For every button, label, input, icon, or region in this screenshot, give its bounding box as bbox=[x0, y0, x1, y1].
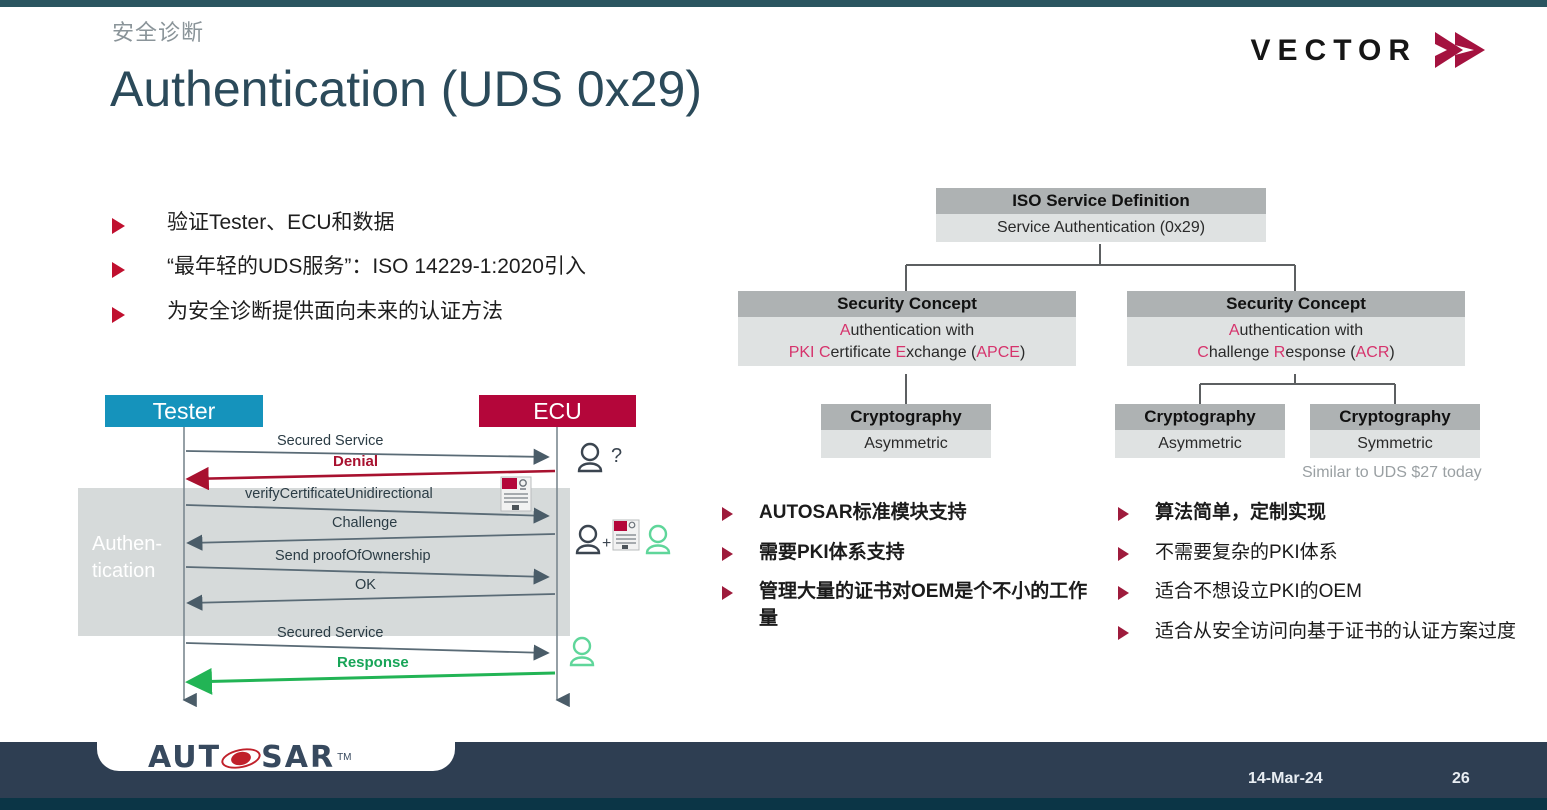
autosar-logo: AUT SAR TM bbox=[148, 740, 352, 775]
certificate-icon bbox=[501, 477, 531, 511]
triangle-bullet-icon bbox=[1118, 626, 1129, 640]
iso-service-hierarchy: ISO Service Definition Service Authentic… bbox=[730, 188, 1490, 478]
autosar-wordmark-a: AUT bbox=[148, 740, 221, 775]
footer-bottom-strip bbox=[0, 798, 1547, 810]
autosar-trademark: TM bbox=[337, 752, 351, 763]
footer-page-number: 26 bbox=[1452, 770, 1470, 788]
list-item: 适合从安全访问向基于证书的认证方案过度 bbox=[1118, 619, 1518, 646]
tree-node-title: Security Concept bbox=[738, 291, 1076, 317]
person-authenticated-green-icon bbox=[571, 638, 593, 665]
tree-node-body: Authentication with PKI Certificate Exch… bbox=[738, 317, 1076, 366]
certificate-small-icon bbox=[613, 520, 639, 550]
tree-note: Similar to UDS $27 today bbox=[1302, 464, 1482, 482]
tree-node-title: Cryptography bbox=[821, 404, 991, 430]
person-unknown-icon bbox=[579, 444, 601, 471]
tree-node-crypto-apce: Cryptography Asymmetric bbox=[821, 404, 991, 458]
bullet-text: 需要PKI体系支持 bbox=[759, 540, 905, 567]
list-item: 不需要复杂的PKI体系 bbox=[1118, 540, 1518, 567]
person-verified-green-icon bbox=[647, 526, 669, 553]
tree-node-body: Symmetric bbox=[1310, 430, 1480, 458]
page-title: Authentication (UDS 0x29) bbox=[110, 60, 702, 118]
tree-node-body-line2: PKI Certificate Exchange (APCE) bbox=[744, 342, 1070, 364]
left-bullet-list: 验证Tester、ECU和数据 “最年轻的UDS服务”：ISO 14229-1:… bbox=[112, 208, 712, 341]
tree-node-concept-apce: Security Concept Authentication with PKI… bbox=[738, 291, 1076, 366]
list-item: AUTOSAR标准模块支持 bbox=[722, 500, 1092, 527]
vector-wordmark: VECTOR bbox=[1251, 34, 1417, 68]
slide-kicker: 安全诊断 bbox=[112, 15, 204, 47]
tree-node-body: Service Authentication (0x29) bbox=[936, 214, 1266, 242]
tree-node-body-line1: Authentication with bbox=[1133, 320, 1459, 342]
tree-node-title: Security Concept bbox=[1127, 291, 1465, 317]
triangle-bullet-icon bbox=[112, 262, 125, 278]
footer-date: 14-Mar-24 bbox=[1248, 770, 1323, 788]
triangle-bullet-icon bbox=[1118, 586, 1129, 600]
top-accent-bar bbox=[0, 0, 1547, 7]
tree-node-title: ISO Service Definition bbox=[936, 188, 1266, 214]
autosar-wordmark-b: SAR bbox=[261, 740, 335, 775]
tree-node-title: Cryptography bbox=[1310, 404, 1480, 430]
message-label: verifyCertificateUnidirectional bbox=[245, 486, 433, 502]
apce-bullet-list: AUTOSAR标准模块支持 需要PKI体系支持 管理大量的证书对OEM是个不小的… bbox=[722, 500, 1092, 645]
message-label: Secured Service bbox=[277, 625, 383, 641]
bullet-text: 验证Tester、ECU和数据 bbox=[167, 208, 395, 238]
list-item: 适合不想设立PKI的OEM bbox=[1118, 579, 1518, 606]
triangle-bullet-icon bbox=[1118, 507, 1129, 521]
tree-node-concept-acr: Security Concept Authentication with Cha… bbox=[1127, 291, 1465, 366]
slide-root: 安全诊断 Authentication (UDS 0x29) VECTOR 验证… bbox=[0, 0, 1547, 810]
vector-logo: VECTOR bbox=[1251, 30, 1487, 72]
triangle-bullet-icon bbox=[722, 507, 733, 521]
list-item: 算法简单，定制实现 bbox=[1118, 500, 1518, 527]
list-item: 管理大量的证书对OEM是个不小的工作量 bbox=[722, 579, 1092, 632]
bullet-text: AUTOSAR标准模块支持 bbox=[759, 500, 967, 527]
bullet-text: 管理大量的证书对OEM是个不小的工作量 bbox=[759, 579, 1092, 632]
svg-text:?: ? bbox=[611, 445, 622, 467]
triangle-bullet-icon bbox=[1118, 547, 1129, 561]
autosar-o-icon bbox=[221, 744, 261, 772]
vector-chevron-icon bbox=[1433, 30, 1487, 72]
message-label: Secured Service bbox=[277, 433, 383, 449]
tree-node-crypto-acr-sym: Cryptography Symmetric bbox=[1310, 404, 1480, 458]
message-label: Response bbox=[337, 654, 409, 671]
message-label: Challenge bbox=[332, 515, 397, 531]
bullet-text: 不需要复杂的PKI体系 bbox=[1155, 540, 1338, 567]
bullet-text: “最年轻的UDS服务”：ISO 14229-1:2020引入 bbox=[167, 252, 586, 282]
bullet-text: 适合从安全访问向基于证书的认证方案过度 bbox=[1155, 619, 1516, 646]
triangle-bullet-icon bbox=[112, 218, 125, 234]
message-label: Denial bbox=[333, 453, 378, 470]
tree-node-title: Cryptography bbox=[1115, 404, 1285, 430]
bullet-text: 算法简单，定制实现 bbox=[1155, 500, 1326, 527]
bullet-text: 适合不想设立PKI的OEM bbox=[1155, 579, 1362, 606]
tree-node-body: Asymmetric bbox=[821, 430, 991, 458]
sequence-diagram: Authen- tication Tester ECU bbox=[78, 385, 698, 720]
list-item: 需要PKI体系支持 bbox=[722, 540, 1092, 567]
tree-node-crypto-acr-asym: Cryptography Asymmetric bbox=[1115, 404, 1285, 458]
message-label: OK bbox=[355, 577, 376, 593]
person-plus-certificate-icon bbox=[577, 526, 599, 553]
bullet-text: 为安全诊断提供面向未来的认证方法 bbox=[167, 297, 503, 327]
acr-bullet-list: 算法简单，定制实现 不需要复杂的PKI体系 适合不想设立PKI的OEM 适合从安… bbox=[1118, 500, 1518, 658]
tree-node-body: Asymmetric bbox=[1115, 430, 1285, 458]
list-item: “最年轻的UDS服务”：ISO 14229-1:2020引入 bbox=[112, 252, 712, 282]
tree-node-body-line2: Challenge Response (ACR) bbox=[1133, 342, 1459, 364]
triangle-bullet-icon bbox=[722, 586, 733, 600]
triangle-bullet-icon bbox=[112, 307, 125, 323]
tree-node-root: ISO Service Definition Service Authentic… bbox=[936, 188, 1266, 242]
triangle-bullet-icon bbox=[722, 547, 733, 561]
list-item: 为安全诊断提供面向未来的认证方法 bbox=[112, 297, 712, 327]
tree-node-body: Authentication with Challenge Response (… bbox=[1127, 317, 1465, 366]
message-label: Send proofOfOwnership bbox=[275, 548, 431, 564]
svg-text:+: + bbox=[602, 535, 611, 552]
tree-node-body-line1: Authentication with bbox=[744, 320, 1070, 342]
list-item: 验证Tester、ECU和数据 bbox=[112, 208, 712, 238]
